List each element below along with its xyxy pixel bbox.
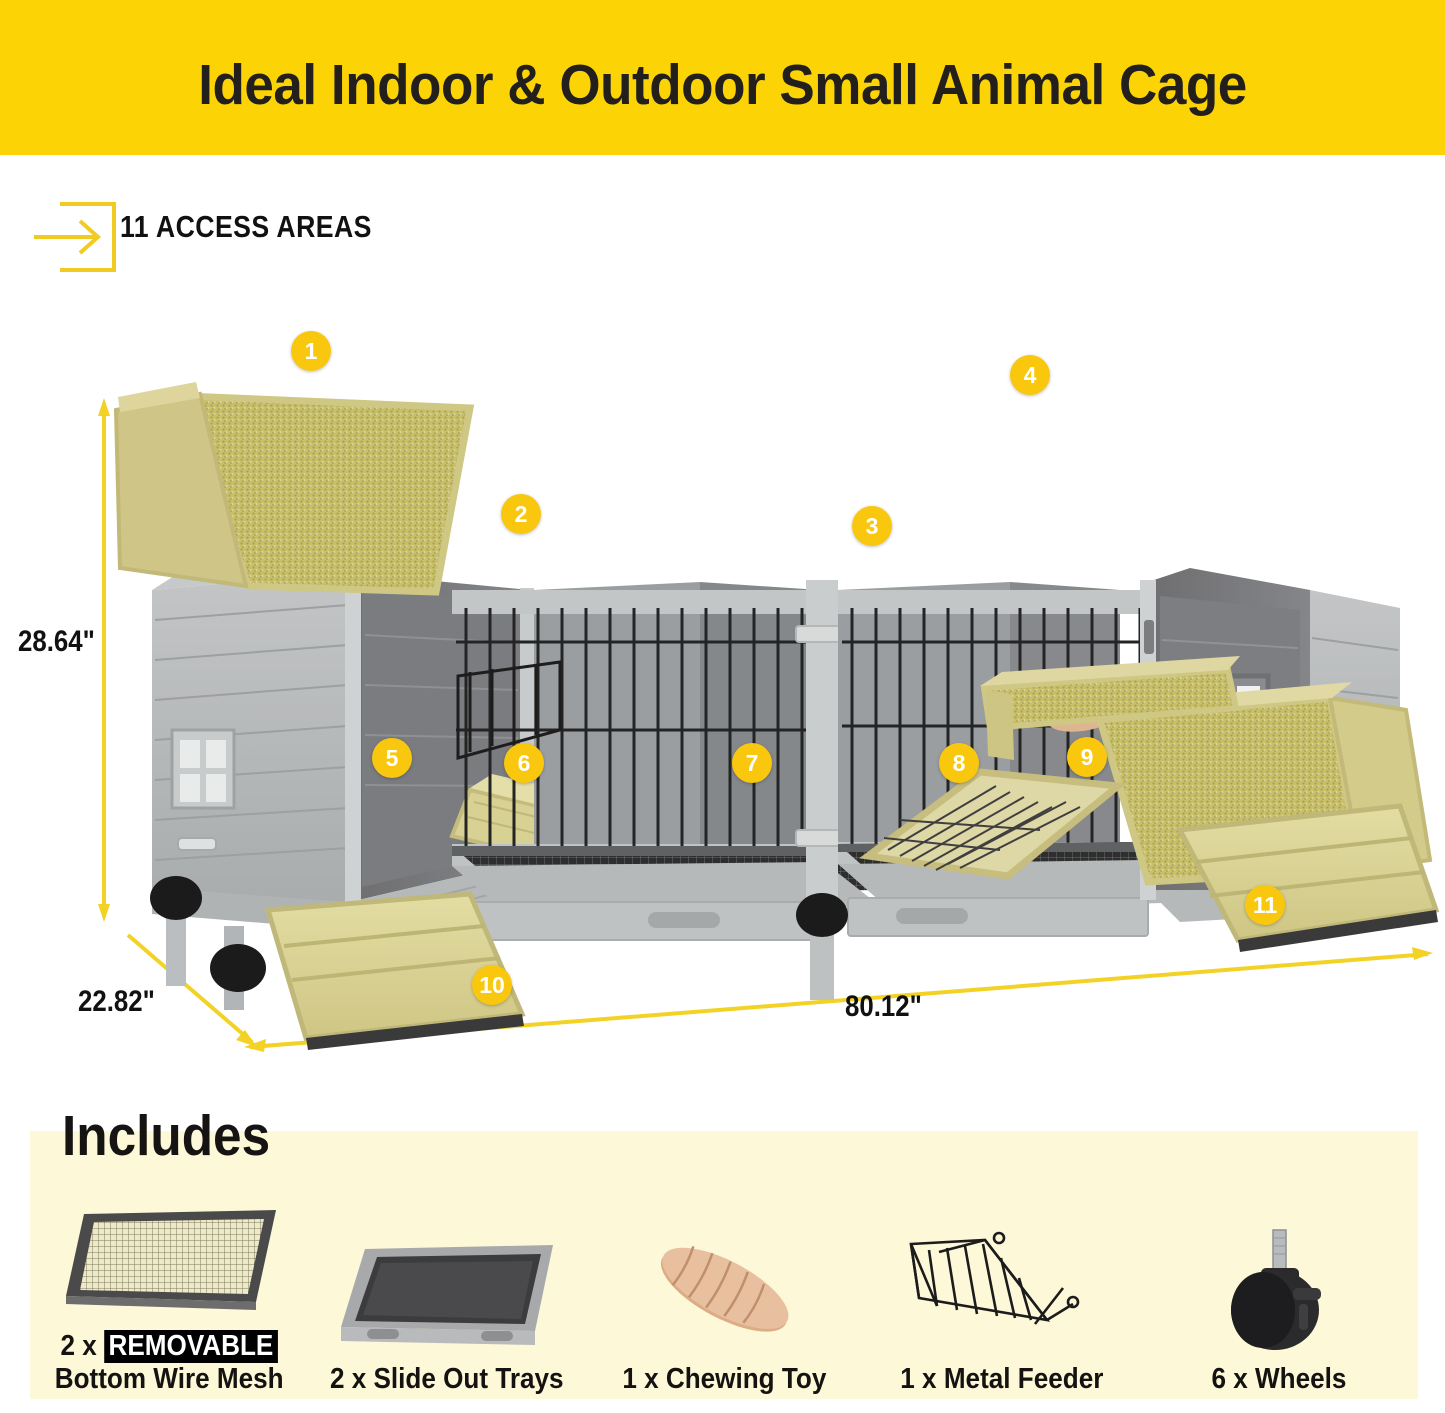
include-caption-metal-feeder: 1 x Metal Feeder [900, 1363, 1103, 1405]
callout-badge-3[interactable]: 3 [852, 506, 892, 546]
right-ramp [1180, 806, 1438, 952]
include-label-wire-mesh: Bottom Wire Mesh [54, 1363, 283, 1395]
product-illustration: 28.64" 22.82" 80.12" 1 2 3 4 5 6 7 8 9 1… [0, 290, 1445, 1080]
callout-badge-5[interactable]: 5 [372, 738, 412, 778]
left-roof-panel [116, 382, 470, 592]
include-item-chewing-toy: 1 x Chewing Toy [585, 1160, 863, 1405]
callout-badge-6[interactable]: 6 [504, 743, 544, 783]
access-areas-row: 11 ACCESS AREAS [0, 185, 1445, 285]
dimension-height: 28.64" [18, 625, 95, 659]
callout-badge-1[interactable]: 1 [291, 331, 331, 371]
enter-arrow-icon [30, 198, 120, 276]
hutch-drawing [0, 290, 1445, 1080]
header-banner: Ideal Indoor & Outdoor Small Animal Cage [0, 0, 1445, 155]
slide-out-tray-icon [308, 1225, 586, 1357]
include-item-wheels: 6 x Wheels [1140, 1160, 1418, 1405]
include-qty-wire-mesh: 2 x [60, 1330, 96, 1362]
dimension-width: 80.12" [845, 990, 922, 1024]
include-item-metal-feeder: 1 x Metal Feeder [863, 1160, 1141, 1405]
include-highlight-removable: REMOVABLE [104, 1330, 278, 1362]
callout-badge-9[interactable]: 9 [1067, 737, 1107, 777]
include-caption-wheels: 6 x Wheels [1212, 1363, 1347, 1405]
include-item-slide-out-trays: 2 x Slide Out Trays [308, 1160, 586, 1405]
include-caption-slide-out-trays: 2 x Slide Out Trays [330, 1363, 564, 1405]
include-caption-wire-mesh: 2 x REMOVABLE Bottom Wire Mesh [54, 1330, 283, 1405]
dimension-depth: 22.82" [78, 985, 155, 1019]
page-title: Ideal Indoor & Outdoor Small Animal Cage [51, 52, 1395, 118]
include-item-wire-mesh: 2 x REMOVABLE Bottom Wire Mesh [30, 1160, 308, 1405]
chewing-toy-icon [585, 1225, 863, 1357]
caster-wheel-icon [1140, 1225, 1418, 1357]
metal-feeder-icon [863, 1225, 1141, 1357]
wire-mesh-icon [30, 1192, 308, 1324]
callout-badge-4[interactable]: 4 [1010, 355, 1050, 395]
callout-badge-11[interactable]: 11 [1245, 885, 1285, 925]
callout-badge-2[interactable]: 2 [501, 494, 541, 534]
callout-badge-8[interactable]: 8 [939, 743, 979, 783]
callout-badge-10[interactable]: 10 [472, 965, 512, 1005]
includes-items-list: 2 x REMOVABLE Bottom Wire Mesh 2 x Slide… [30, 1160, 1418, 1405]
access-areas-label: 11 ACCESS AREAS [120, 209, 372, 245]
include-caption-chewing-toy: 1 x Chewing Toy [622, 1363, 826, 1405]
callout-badge-7[interactable]: 7 [732, 743, 772, 783]
left-window [172, 730, 234, 808]
